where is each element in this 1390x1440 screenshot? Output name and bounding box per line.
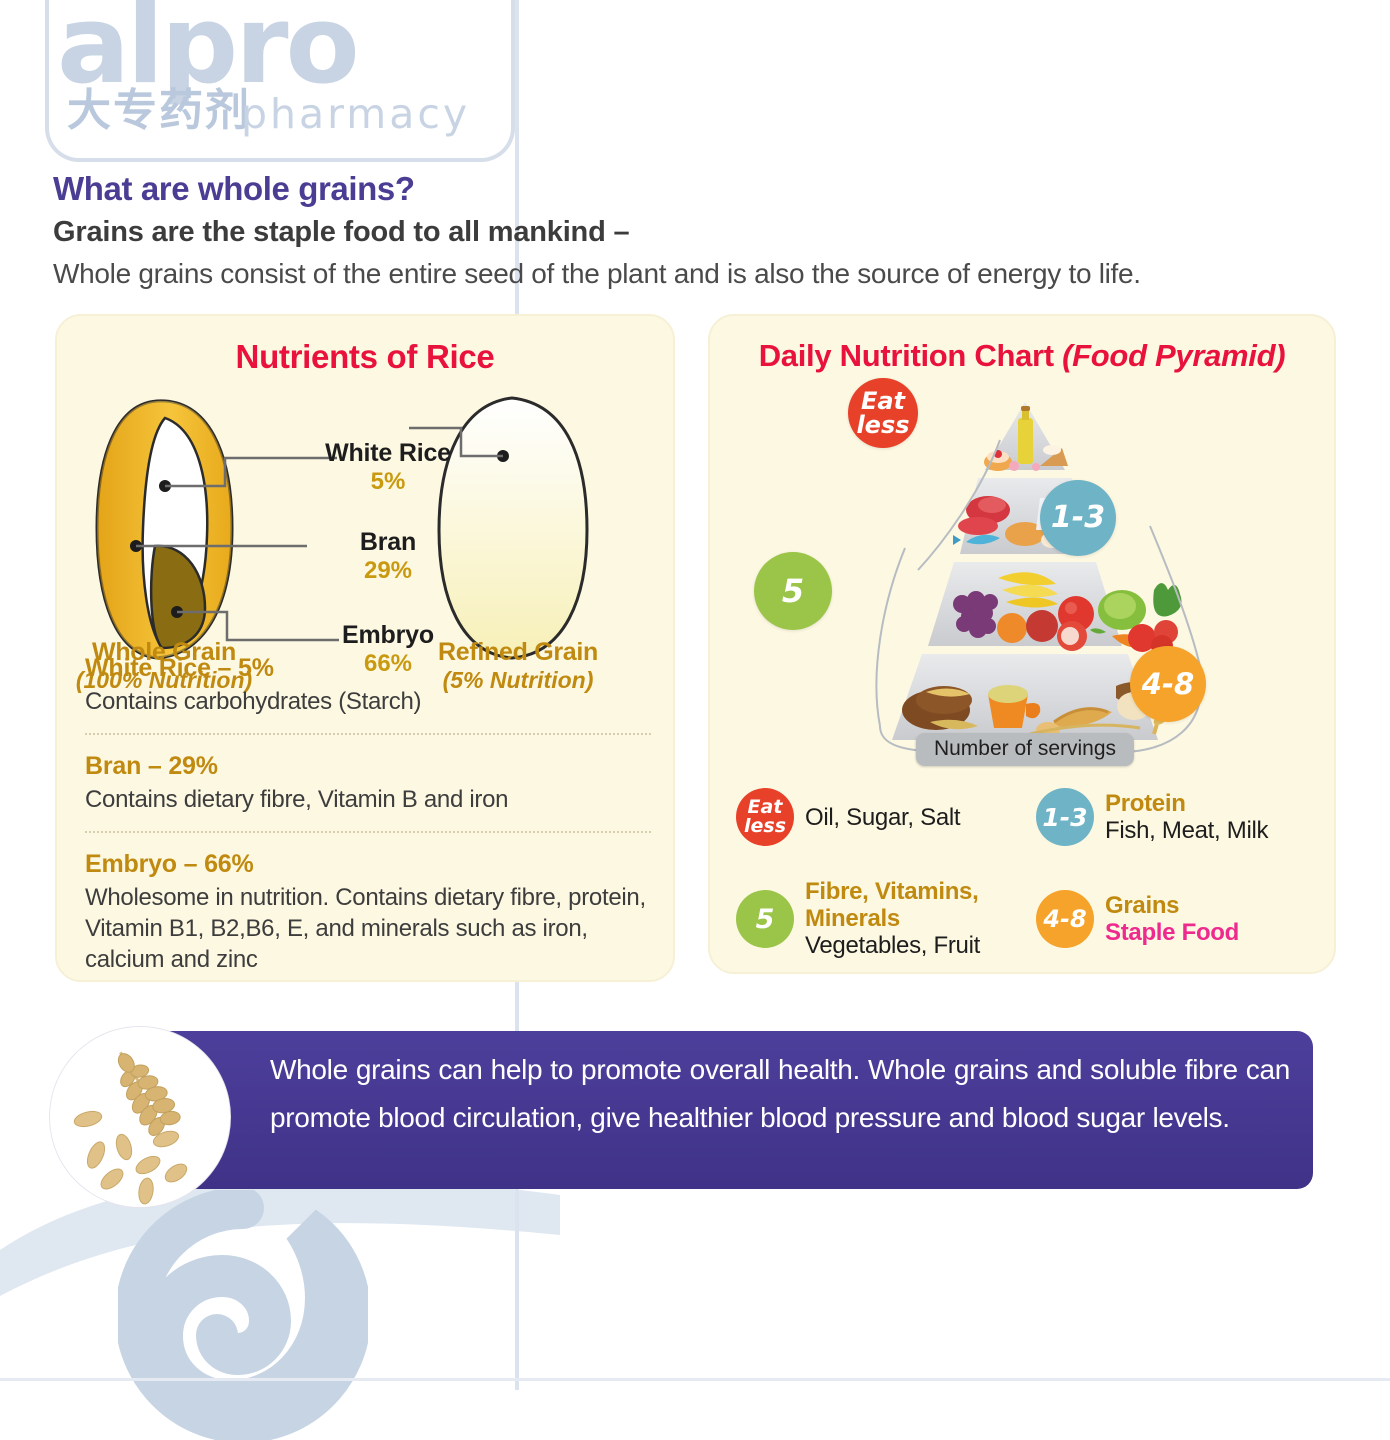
- legend-label-oil-sugar-salt: Oil, Sugar, Salt: [805, 804, 960, 831]
- list-divider: [85, 831, 651, 834]
- legend-badge-1-3-label: 1-3: [1042, 805, 1087, 830]
- legend-row-1: Eatless Oil, Sugar, Salt 1-3 Protein Fis…: [736, 788, 1316, 846]
- label-white-rice: White Rice 5%: [293, 439, 483, 496]
- food-pyramid: Eatless 1-3 5 4-8 Number of servings: [730, 374, 1320, 770]
- spiral-logo-watermark: [118, 1190, 368, 1440]
- nutrient-item-embryo: Embryo – 66% Wholesome in nutrition. Con…: [85, 850, 651, 975]
- pyramid-legend: Eatless Oil, Sugar, Salt 1-3 Protein Fis…: [736, 788, 1316, 960]
- page-title: What are whole grains?: [53, 170, 415, 208]
- daily-nutrition-chart-card: Daily Nutrition Chart (Food Pyramid): [708, 314, 1336, 974]
- legend-item-eat-less: Eatless Oil, Sugar, Salt: [736, 788, 1036, 846]
- legend-label-protein: Protein: [1105, 790, 1268, 817]
- right-card-title-bold: Daily Nutrition Chart: [759, 338, 1062, 373]
- legend-item-grains: 4-8 Grains Staple Food: [1036, 878, 1239, 960]
- page-subtitle-bold: Grains are the staple food to all mankin…: [53, 216, 629, 249]
- nutrient-item-white-rice: White Rice – 5% Contains carbohydrates (…: [85, 654, 651, 717]
- page-subtitle: Whole grains consist of the entire seed …: [53, 258, 1141, 290]
- logo-subtext: pharmacy: [241, 92, 470, 136]
- logo-chinese-text: 大专药剂: [67, 88, 251, 134]
- badge-1-3-label: 1-3: [1051, 503, 1105, 533]
- legend-sublabel-grains: Staple Food: [1105, 919, 1239, 947]
- legend-sublabel-fibre: Vegetables, Fruit: [805, 932, 980, 960]
- whole-grain-illustration: [97, 401, 232, 658]
- legend-badge-1-3: 1-3: [1036, 788, 1094, 846]
- pyramid-caption: Number of servings: [916, 733, 1134, 766]
- badge-5-label: 5: [782, 575, 804, 607]
- nutrients-of-rice-card: Nutrients of Rice: [55, 314, 675, 982]
- badge-1-3: 1-3: [1040, 480, 1116, 556]
- brand-logo: alpro 大专药剂 pharmacy: [45, 0, 515, 172]
- list-divider: [85, 733, 651, 736]
- wheat-photo: [50, 1027, 230, 1207]
- infographic-page: alpro 大专药剂 pharmacy What are whole grain…: [0, 0, 1390, 1390]
- legend-badge-5-label: 5: [756, 906, 775, 933]
- legend-badge-4-8-label: 4-8: [1043, 907, 1086, 931]
- nutrient-list: White Rice – 5% Contains carbohydrates (…: [85, 654, 651, 975]
- badge-eat-less-label: Eatless: [856, 389, 909, 437]
- right-card-title: Daily Nutrition Chart (Food Pyramid): [710, 338, 1334, 374]
- legend-badge-4-8: 4-8: [1036, 890, 1094, 948]
- legend-item-fibre: 5 Fibre, Vitamins, Minerals Vegetables, …: [736, 878, 1036, 960]
- legend-sublabel-protein: Fish, Meat, Milk: [1105, 817, 1268, 845]
- legend-badge-eat-less: Eatless: [736, 788, 794, 846]
- food-oil-sugar-illustration: [984, 406, 1068, 471]
- badge-eat-less: Eatless: [848, 378, 918, 448]
- nutrient-item-bran: Bran – 29% Contains dietary fibre, Vitam…: [85, 752, 651, 815]
- legend-label-fibre: Fibre, Vitamins, Minerals: [805, 878, 980, 932]
- badge-5: 5: [754, 552, 832, 630]
- bottom-rule-watermark: [0, 1378, 1390, 1381]
- badge-4-8: 4-8: [1130, 646, 1206, 722]
- legend-label-grains: Grains: [1105, 892, 1239, 919]
- legend-badge-5: 5: [736, 890, 794, 948]
- badge-4-8-label: 4-8: [1142, 670, 1194, 699]
- legend-item-protein: 1-3 Protein Fish, Meat, Milk: [1036, 788, 1268, 846]
- left-card-title: Nutrients of Rice: [57, 338, 673, 376]
- wheat-illustration: [50, 1027, 230, 1207]
- right-card-title-italic: (Food Pyramid): [1062, 338, 1285, 373]
- health-benefit-text: Whole grains can help to promote overall…: [270, 1046, 1290, 1142]
- label-bran: Bran 29%: [293, 528, 483, 585]
- legend-row-2: 5 Fibre, Vitamins, Minerals Vegetables, …: [736, 878, 1316, 960]
